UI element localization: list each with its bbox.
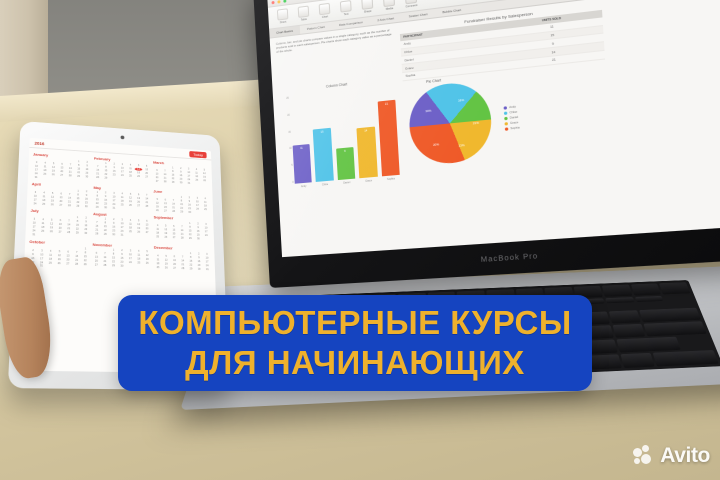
pie-slice-label-andy: 16%: [458, 98, 464, 103]
legend-color-swatch: [505, 127, 508, 130]
calendar-month[interactable]: March12345678910111213141516171819202122…: [153, 160, 208, 189]
legend-item-sophia: Sophia: [505, 126, 520, 131]
ribbon-button-chart[interactable]: Chart: [316, 2, 334, 19]
keyboard-key[interactable]: [602, 285, 632, 297]
calendar-day[interactable]: 28: [93, 232, 101, 236]
y-tick-label: 20: [280, 113, 290, 117]
calendar-day[interactable]: 25: [41, 172, 49, 176]
calendar-day[interactable]: 27: [56, 230, 64, 234]
calendar-year: 2016: [34, 140, 44, 145]
calendar-day[interactable]: 27: [58, 173, 66, 177]
media-icon: [383, 0, 395, 7]
calendar-day[interactable]: 24: [118, 174, 126, 178]
pie-chart-graphic: 16%21%13%20%30%: [407, 79, 493, 166]
legend-color-swatch: [504, 106, 507, 109]
legend-item-grace: Grace: [504, 120, 519, 125]
keyboard-key[interactable]: [643, 321, 706, 336]
legend-color-swatch: [504, 116, 507, 119]
calendar-month[interactable]: September1234567891011121314151617181920…: [154, 215, 211, 245]
calendar-day[interactable]: 29: [186, 236, 194, 240]
calendar-month[interactable]: January123456789101112131415161718192021…: [32, 152, 91, 182]
calendar-day[interactable]: 26: [154, 209, 162, 213]
calendar-day[interactable]: 31: [203, 268, 211, 272]
calendar-day[interactable]: 29: [81, 263, 89, 267]
ribbon-button-label: Media: [386, 7, 394, 11]
bar-category-label: Chloe: [316, 182, 334, 187]
calendar-day[interactable]: 28: [179, 267, 187, 271]
keyboard-key[interactable]: [589, 354, 622, 369]
calendar-day[interactable]: 29: [169, 180, 177, 184]
keyboard-key[interactable]: [659, 282, 690, 294]
calendar-day[interactable]: 27: [143, 231, 151, 235]
bar-daniel[interactable]: 9Daniel: [336, 147, 356, 180]
text-icon: [340, 0, 352, 13]
keyboard-key[interactable]: [617, 337, 682, 353]
calendar-day-grid: 1234567891011121314151617181920212223242…: [153, 194, 209, 215]
calendar-day[interactable]: 27: [92, 263, 100, 267]
column-chart-plot: 11Andy15Chloe9Daniel14Grace21Sophia: [290, 85, 400, 183]
bar-andy[interactable]: 11Andy: [293, 144, 313, 184]
column-chart[interactable]: Column Chart 2520151050 11Andy15Chloe9Da…: [278, 77, 402, 194]
bar-category-label: Sophia: [382, 176, 400, 181]
calendar-day[interactable]: 28: [94, 176, 102, 180]
tablet-camera-icon: [121, 136, 125, 140]
calendar-day[interactable]: 29: [178, 210, 186, 214]
calendar-day[interactable]: 31: [30, 233, 38, 237]
table-icon: [298, 6, 310, 18]
calendar-day[interactable]: 29: [73, 231, 81, 235]
calendar-day[interactable]: 31: [110, 206, 118, 210]
calendar-day[interactable]: 26: [48, 203, 56, 207]
bar-category-label: Andy: [295, 184, 313, 188]
calendar-day[interactable]: 26: [201, 179, 208, 183]
calendar-day[interactable]: 27: [64, 262, 72, 266]
avito-logo-icon: [633, 445, 655, 467]
calendar-day-grid: 1234567891011121314151617181920212223242…: [32, 157, 91, 182]
calendar-day[interactable]: 25: [193, 178, 200, 182]
calendar-day[interactable]: 25: [46, 261, 54, 265]
calendar-month[interactable]: November12345678910111213141516171819202…: [92, 242, 151, 273]
ribbon-button-label: Chart: [322, 15, 329, 19]
calendar-day[interactable]: 28: [178, 236, 186, 240]
calendar-day[interactable]: 26: [135, 175, 143, 179]
legend-label: Sophia: [510, 126, 519, 130]
keyboard-key[interactable]: [609, 310, 641, 323]
calendar-day[interactable]: 24: [31, 202, 39, 206]
calendar-day[interactable]: 30: [195, 237, 203, 241]
calendar-day[interactable]: 25: [38, 229, 46, 233]
calendar-month[interactable]: July123456789101112131415161718192021222…: [30, 208, 91, 239]
avito-watermark: Avito: [633, 444, 710, 468]
calendar-month[interactable]: October123456789101112131415161718192021…: [28, 239, 89, 270]
y-tick-label: 25: [279, 97, 289, 101]
calendar-day-grid: 1234567891011121314151617181920212223242…: [92, 248, 151, 269]
calendar-day[interactable]: 26: [127, 203, 135, 207]
bar-value-label: 11: [293, 146, 311, 151]
calendar-day[interactable]: 30: [195, 267, 203, 271]
calendar-day[interactable]: 27: [135, 204, 143, 208]
laptop-screen: Chart Basics SheetTableChartTextShapeMed…: [267, 0, 720, 257]
calendar-day[interactable]: 24: [194, 207, 202, 211]
calendar-day[interactable]: 26: [49, 173, 57, 177]
bar-value-label: 9: [336, 149, 354, 154]
calendar-month[interactable]: December12345678910111213141516171819202…: [154, 245, 211, 275]
shape-icon: [361, 0, 373, 10]
calendar-day[interactable]: 31: [118, 233, 126, 237]
calendar-day[interactable]: 27: [57, 203, 65, 207]
keyboard-key[interactable]: [631, 283, 662, 295]
keyboard-key[interactable]: [613, 324, 645, 338]
ribbon-button-comment[interactable]: Comment: [402, 0, 421, 9]
minimize-icon[interactable]: [277, 0, 280, 3]
calendar-day-grid: 1234567891011121314151617181920212223242…: [31, 187, 91, 208]
calendar-day[interactable]: 28: [65, 204, 73, 208]
calendar-day[interactable]: 29: [187, 267, 195, 271]
calendar-day[interactable]: 24: [202, 234, 210, 238]
keyboard-key[interactable]: [639, 308, 701, 323]
calendar-month[interactable]: June123456789101112131415161718192021222…: [153, 189, 209, 215]
app-canvas: Column, bar, and pie charts compare valu…: [270, 0, 720, 257]
calendar-day[interactable]: 28: [65, 231, 73, 235]
calendar-day[interactable]: 30: [110, 233, 118, 237]
ribbon-button-label: Text: [344, 13, 349, 17]
keyboard-key[interactable]: [635, 296, 664, 302]
calendar-day[interactable]: 30: [118, 264, 126, 268]
ribbon-button-table[interactable]: Table: [295, 5, 313, 22]
avito-watermark-label: Avito: [660, 444, 710, 468]
calendar-day[interactable]: 28: [170, 210, 178, 214]
calendar-day[interactable]: 28: [161, 180, 169, 184]
promo-banner-line-2: ДЛЯ НАЧИНАЮЩИХ: [185, 343, 525, 383]
calendar-day[interactable]: 30: [186, 210, 194, 214]
close-icon[interactable]: [271, 0, 274, 3]
calendar-day[interactable]: 26: [47, 230, 55, 234]
laptop-lid: Chart Basics SheetTableChartTextShapeMed…: [253, 0, 720, 288]
calendar-day[interactable]: 29: [75, 174, 83, 178]
pie-slice-label-chloe: 21%: [473, 121, 479, 126]
legend-item-andy: Andy: [504, 105, 519, 110]
calendar-month[interactable]: April12345678910111213141516171819202122…: [31, 181, 91, 208]
calendar-day-grid: 1234567891011121314151617181920212223242…: [93, 191, 151, 212]
ribbon-button-label: Shape: [364, 10, 372, 14]
calendar-today-button[interactable]: Today: [190, 151, 207, 158]
calendar-day[interactable]: 30: [102, 206, 110, 210]
calendar-day[interactable]: 30: [82, 231, 90, 235]
calendar-day[interactable]: 28: [66, 174, 74, 178]
calendar-day[interactable]: 30: [177, 181, 185, 185]
y-tick-label: 10: [282, 147, 292, 151]
calendar-day[interactable]: 26: [135, 230, 143, 234]
calendar-day[interactable]: 25: [40, 202, 48, 206]
calendar-day[interactable]: 24: [126, 261, 134, 265]
calendar-day-grid: 1234567891011121314151617181920212223242…: [154, 220, 211, 241]
calendar-day[interactable]: 27: [170, 236, 178, 240]
calendar-day[interactable]: 29: [74, 204, 82, 208]
ribbon-button-shape[interactable]: Shape: [358, 0, 376, 14]
calendar-day[interactable]: 31: [32, 175, 40, 179]
legend-label: Daniel: [510, 115, 519, 119]
pie-chart-legend: AndyChloeDanielGraceSophia: [504, 105, 520, 131]
bar-value-label: 21: [377, 102, 395, 107]
bar-value-label: 15: [313, 130, 331, 135]
sheet-icon: [277, 8, 288, 20]
bar-chloe[interactable]: 15Chloe: [313, 128, 334, 182]
calendar-day[interactable]: 23: [110, 173, 118, 177]
calendar-day[interactable]: 25: [154, 266, 162, 270]
legend-label: Andy: [509, 105, 516, 109]
calendar-day[interactable]: 26: [55, 261, 63, 265]
bar-grace[interactable]: 14Grace: [357, 127, 378, 178]
spreadsheet-app: Chart Basics SheetTableChartTextShapeMed…: [267, 0, 720, 257]
calendar-day[interactable]: 29: [102, 176, 110, 180]
promo-banner: КОМПЬЮТЕРНЫЕ КУРСЫ ДЛЯ НАЧИНАЮЩИХ: [118, 295, 592, 391]
legend-color-swatch: [504, 111, 507, 114]
bar-value-label: 14: [357, 129, 375, 134]
calendar-day[interactable]: 25: [126, 230, 134, 234]
calendar-day[interactable]: 25: [118, 203, 126, 207]
calendar-day[interactable]: 26: [162, 266, 170, 270]
calendar-day[interactable]: 28: [143, 204, 151, 208]
y-tick-label: 0: [284, 181, 294, 185]
calendar-day[interactable]: 31: [185, 181, 193, 185]
calendar-day[interactable]: 28: [101, 263, 109, 267]
legend-item-chloe: Chloe: [504, 110, 519, 115]
keyboard-key[interactable]: [606, 297, 635, 303]
pie-slice-label-daniel: 13%: [458, 143, 464, 148]
pie-slice-label-grace: 20%: [433, 143, 439, 148]
calendar-day[interactable]: 29: [93, 205, 101, 209]
bar-category-label: Daniel: [338, 180, 356, 185]
promo-banner-line-1: КОМПЬЮТЕРНЫЕ КУРСЫ: [138, 303, 571, 343]
ribbon-button-sheet[interactable]: Sheet: [274, 8, 292, 25]
photo-scene: Chart Basics SheetTableChartTextShapeMed…: [0, 0, 720, 480]
calendar-day[interactable]: 27: [143, 175, 151, 179]
legend-color-swatch: [504, 122, 507, 125]
calendar-day-grid: 1234567891011121314151617181920212223242…: [154, 250, 211, 271]
bar-sophia[interactable]: 21Sophia: [377, 100, 399, 177]
calendar-day[interactable]: 27: [162, 209, 170, 213]
pie-slice-label-sophia: 30%: [425, 108, 431, 113]
calendar-day[interactable]: 29: [101, 232, 109, 236]
calendar-day[interactable]: 30: [82, 205, 90, 209]
calendar-day[interactable]: 26: [162, 235, 170, 239]
calendar-month[interactable]: May1234567891011121314151617181920212223…: [93, 185, 151, 212]
legend-label: Grace: [510, 121, 518, 125]
calendar-day[interactable]: 30: [83, 175, 91, 179]
ribbon-button-label: Table: [301, 18, 307, 22]
y-tick-label: 15: [281, 130, 291, 134]
ribbon-button-label: Sheet: [280, 20, 287, 24]
calendar-day[interactable]: 29: [109, 264, 117, 268]
ribbon-button-text[interactable]: Text: [337, 0, 355, 17]
ribbon-button-media[interactable]: Media: [380, 0, 399, 12]
pie-chart[interactable]: Pie Chart 16%21%13%20%30% AndyChloeDanie…: [407, 61, 612, 186]
chart-icon: [319, 3, 331, 16]
legend-item-daniel: Daniel: [504, 115, 519, 120]
ribbon-button-label: Comment: [405, 4, 417, 9]
y-tick-label: 5: [283, 164, 293, 168]
calendar-day-grid: 1234567891011121314151617181920212223242…: [28, 245, 89, 270]
calendar-day[interactable]: 28: [72, 262, 80, 266]
calendar-day[interactable]: 31: [37, 265, 45, 269]
calendar-day[interactable]: 27: [171, 266, 179, 270]
calendar-month[interactable]: August1234567891011121314151617181920212…: [93, 211, 151, 241]
calendar-day-grid: 1234567891011121314151617181920212223242…: [93, 217, 151, 238]
calendar-day-grid: 1234567891011121314151617181920212223242…: [30, 214, 91, 239]
calendar-day[interactable]: 27: [153, 179, 161, 183]
legend-label: Chloe: [509, 110, 517, 114]
calendar-month[interactable]: February12345678910111213141516171819202…: [94, 156, 151, 186]
calendar-day[interactable]: 26: [143, 261, 151, 265]
maximize-icon[interactable]: [283, 0, 286, 2]
calendar-day[interactable]: 25: [135, 261, 143, 265]
calendar-day[interactable]: 25: [127, 174, 135, 178]
calendar-day-grid: 1234567891011121314151617181920212223242…: [94, 161, 151, 182]
calendar-year-grid: January123456789101112131415161718192021…: [24, 148, 215, 279]
calendar-day[interactable]: 25: [154, 235, 162, 239]
keyboard-key[interactable]: [621, 353, 655, 368]
keyboard-key[interactable]: [652, 350, 718, 366]
calendar-day-grid: 1234567891011121314151617181920212223242…: [153, 165, 208, 186]
bar-category-label: Grace: [360, 178, 378, 183]
calendar-day[interactable]: 25: [202, 208, 210, 212]
